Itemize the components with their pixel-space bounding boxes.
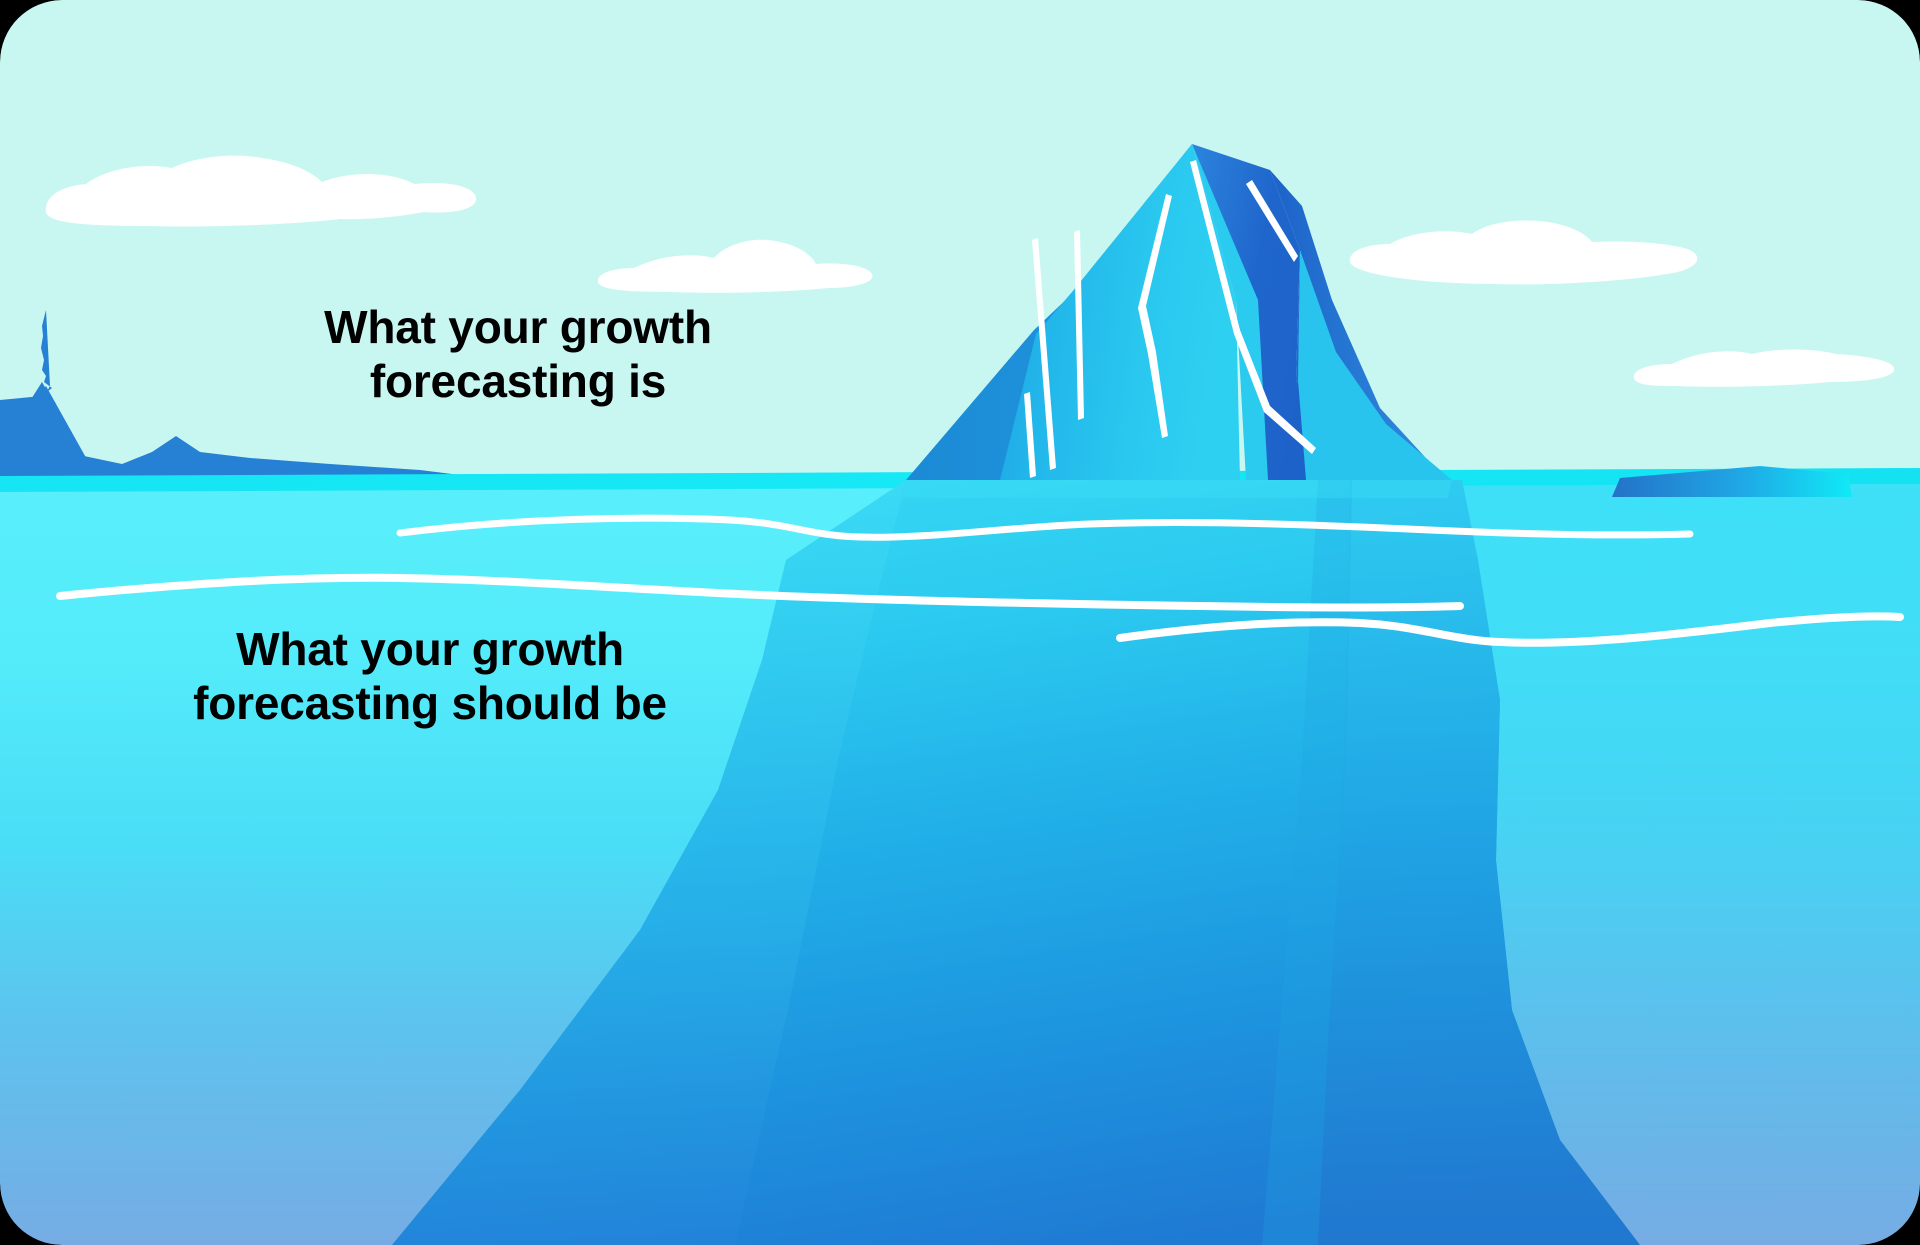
iceberg-tip-waterline-tint: [902, 480, 1452, 498]
rounded-illustration-card: What your growth forecasting is What you…: [0, 0, 1920, 1245]
iceberg-scene: [0, 0, 1920, 1245]
illustration-stage: What your growth forecasting is What you…: [0, 0, 1920, 1245]
